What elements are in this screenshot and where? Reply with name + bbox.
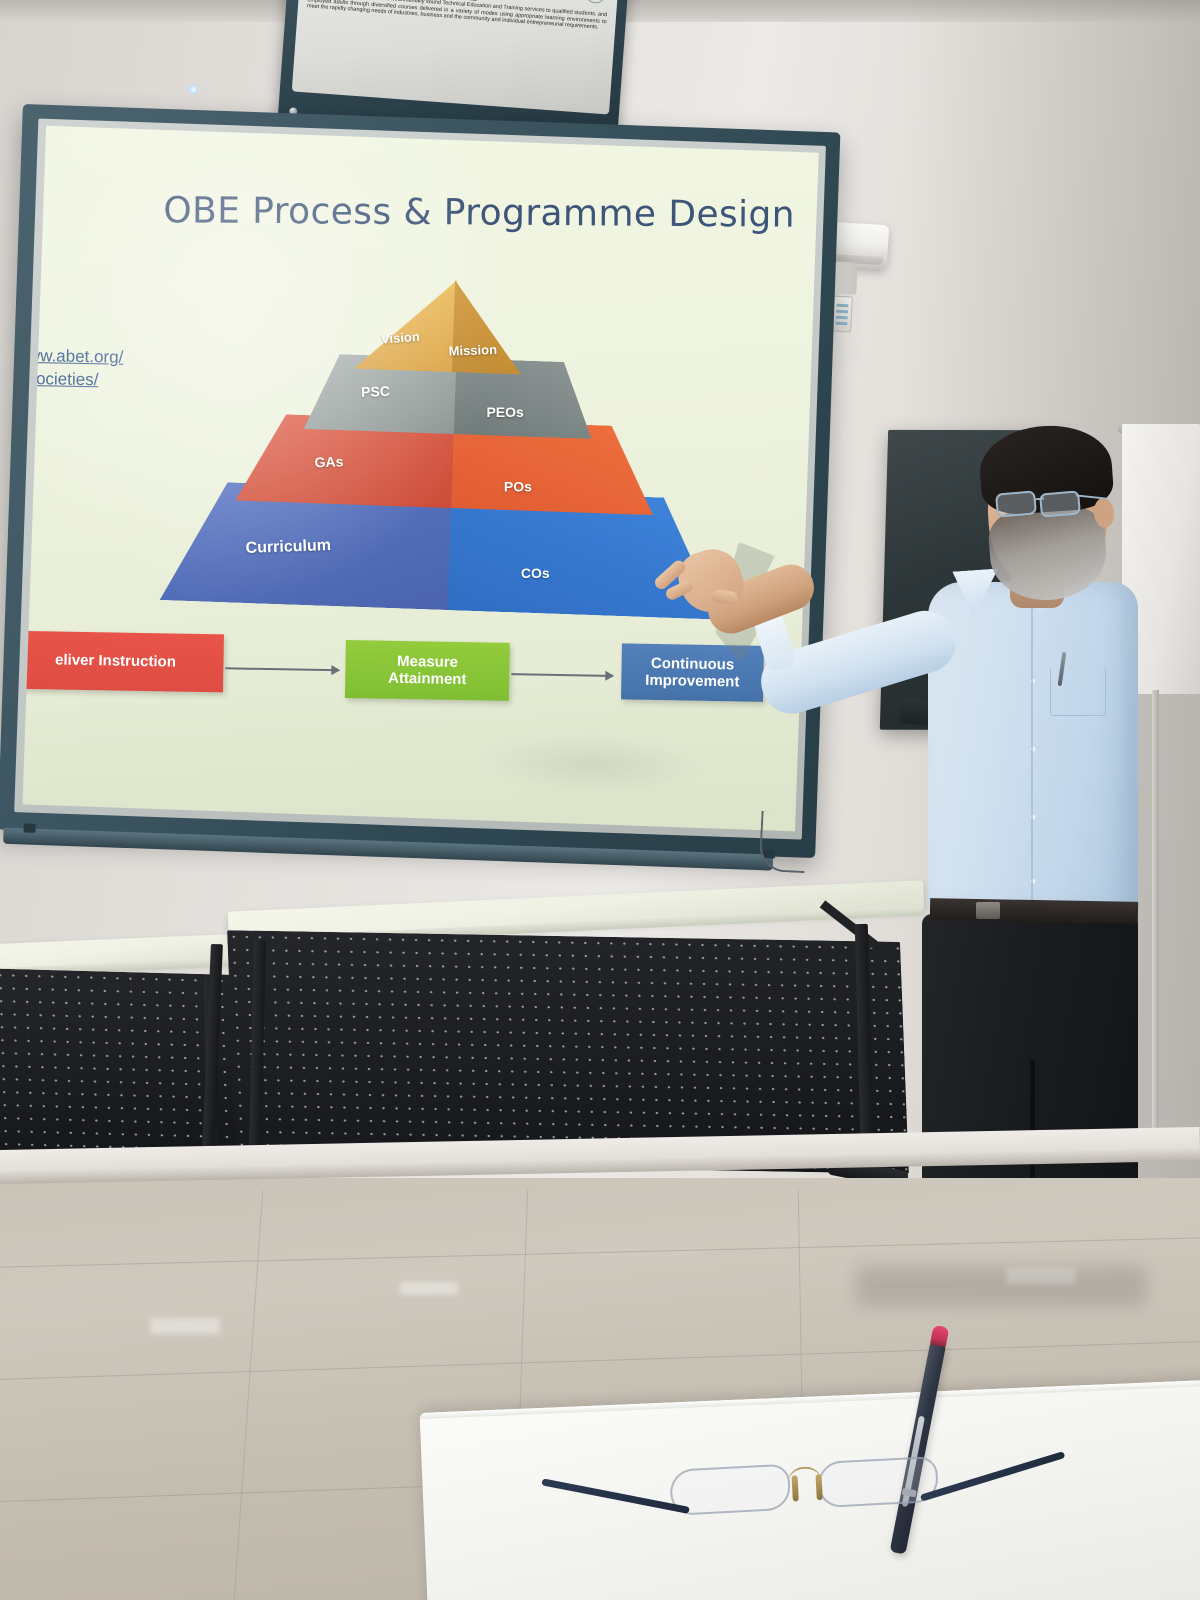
flow-arrow-1-line bbox=[225, 667, 333, 671]
lens-glint bbox=[188, 84, 199, 95]
projection-whiteboard[interactable]: OBE Process & Programme Design ww.abet.o… bbox=[0, 104, 840, 858]
board-inner-bezel: OBE Process & Programme Design ww.abet.o… bbox=[14, 118, 826, 839]
shirt-button-2 bbox=[1030, 746, 1036, 752]
thumb bbox=[711, 589, 739, 605]
pyramid-tier-vision-mission: Vision Mission bbox=[354, 277, 551, 376]
shirt-button-3 bbox=[1030, 814, 1036, 820]
flow-step-deliver-instruction[interactable]: eliver Instruction bbox=[22, 631, 224, 693]
spectacles-right-lens bbox=[817, 1456, 939, 1508]
ac-mount-bracket bbox=[834, 261, 858, 294]
flow-arrow-2-head bbox=[605, 671, 614, 681]
floor-highlight-2 bbox=[400, 1282, 458, 1295]
flow-step-3-line-2: Improvement bbox=[645, 672, 739, 691]
tier1-right-label: Mission bbox=[448, 342, 497, 359]
projection-smudge bbox=[476, 730, 708, 798]
tier3-left-label: GAs bbox=[314, 453, 343, 470]
tier4-left-label: Curriculum bbox=[245, 537, 331, 558]
eyeglasses-right-lens bbox=[1039, 490, 1081, 517]
tier4-right-label: COs bbox=[521, 565, 550, 581]
spectacles-nosepad-right bbox=[815, 1474, 822, 1500]
tier1-left-label: Vision bbox=[381, 329, 421, 347]
tier1-right-face bbox=[452, 280, 551, 375]
flow-arrow-1-head bbox=[331, 665, 340, 675]
tier1-left-face bbox=[354, 277, 457, 372]
slide-title: OBE Process & Programme Design bbox=[163, 190, 763, 235]
presenter-shirt bbox=[928, 582, 1138, 912]
board-clip-left bbox=[23, 823, 35, 832]
obe-process-flow: eliver Instruction Measure Attainment Co… bbox=[22, 625, 768, 721]
obe-slide: OBE Process & Programme Design ww.abet.o… bbox=[22, 126, 818, 832]
tier2-left-label: PSC bbox=[361, 383, 390, 400]
presenter-belt bbox=[930, 898, 1138, 924]
flow-arrow-2-line bbox=[511, 673, 607, 677]
rimless-eyeglasses[interactable] bbox=[669, 1454, 975, 1590]
obe-hierarchy-pyramid: Curriculum COs GAs POs bbox=[159, 270, 731, 629]
projected-slide-surface: OBE Process & Programme Design ww.abet.o… bbox=[22, 126, 818, 832]
belt-buckle bbox=[976, 902, 1000, 919]
tier2-right-label: PEOs bbox=[486, 404, 523, 420]
shirt-button-1 bbox=[1030, 678, 1036, 684]
eyeglasses-left-lens bbox=[995, 490, 1037, 517]
flow-step-2-line-2: Attainment bbox=[388, 670, 467, 689]
flow-step-3-line-1: Continuous bbox=[651, 655, 735, 674]
shirt-button-4 bbox=[1030, 878, 1036, 884]
floor-highlight-1 bbox=[150, 1318, 220, 1334]
classroom-scene: ...vision... ...ting Quality Education &… bbox=[0, 0, 1200, 1600]
spectacles-nosepad-left bbox=[792, 1475, 799, 1501]
presenter-floor-shadow bbox=[856, 1266, 1146, 1306]
flow-step-2-line-1: Measure bbox=[397, 653, 458, 671]
tier3-right-label: POs bbox=[504, 478, 532, 494]
flow-step-measure-attainment[interactable]: Measure Attainment bbox=[345, 640, 510, 701]
